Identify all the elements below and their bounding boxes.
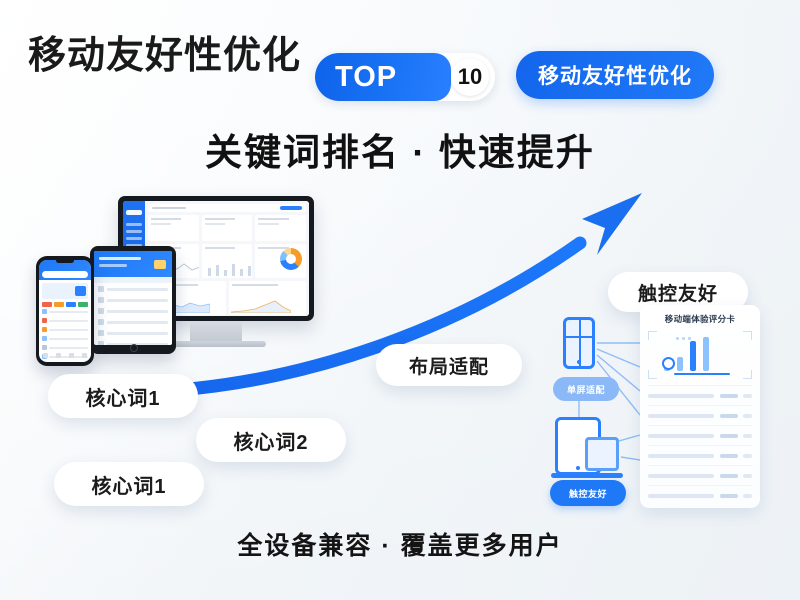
mobile-experience-diagram: 单屏适配 触控友好 移动端体验评分卡 — [545, 305, 760, 520]
list-item — [42, 309, 88, 314]
small-laptop-base — [551, 473, 623, 478]
top-badge-blue-area: TOP — [315, 53, 451, 101]
table-row — [648, 405, 752, 425]
location-pin-icon — [662, 357, 675, 370]
small-laptop-icon — [585, 437, 619, 471]
header-tag-label: 移动友好性优化 — [538, 60, 692, 90]
table-row — [648, 465, 752, 485]
chart-bars — [664, 335, 742, 371]
table-row — [648, 385, 752, 405]
table-row — [648, 445, 752, 465]
keyword-pill-3[interactable]: 核心词1 — [54, 462, 204, 506]
phone-notch — [56, 258, 74, 263]
score-card: 移动端体验评分卡 — [640, 305, 760, 508]
phone-mockup — [36, 256, 94, 366]
top-badge-number-circle: 10 — [451, 58, 489, 96]
table-row — [648, 425, 752, 445]
page-title: 移动友好性优化 — [28, 24, 301, 79]
top-badge-number: 10 — [458, 64, 482, 90]
top-rank-badge: TOP 10 — [315, 53, 495, 101]
phone-app-header — [39, 260, 91, 280]
score-card-table — [648, 385, 752, 505]
table-row — [648, 485, 752, 505]
keyword-pill-2[interactable]: 核心词2 — [196, 418, 346, 462]
phone-screen — [39, 260, 91, 362]
score-card-title: 移动端体验评分卡 — [648, 313, 752, 325]
list-item — [42, 327, 88, 332]
chart-baseline — [674, 373, 730, 375]
keyword-pill-1[interactable]: 核心词1 — [48, 374, 198, 418]
list-item — [42, 336, 88, 341]
home-button-icon — [130, 344, 138, 352]
small-phone-icon — [563, 317, 595, 369]
poster-canvas: 移动友好性优化 TOP 10 移动友好性优化 关键词排名 · 快速提升 — [0, 0, 800, 600]
list-item — [42, 318, 88, 323]
search-input[interactable] — [42, 271, 88, 278]
top-badge-label: TOP — [335, 61, 397, 94]
bottom-caption: 全设备兼容 · 覆盖更多用户 — [0, 526, 800, 562]
callout-layout-adapt[interactable]: 布局适配 — [376, 344, 522, 386]
tag-screen-adapt: 单屏适配 — [553, 377, 619, 401]
page-subtitle: 关键词排名 · 快速提升 — [0, 122, 800, 176]
phone-banner-card — [42, 283, 88, 299]
list-item — [42, 345, 88, 350]
phone-tag-row — [39, 302, 91, 307]
header-tag-pill: 移动友好性优化 — [516, 51, 714, 99]
tag-touch-friendly: 触控友好 — [550, 480, 626, 506]
phone-tabbar — [39, 353, 91, 358]
score-card-chart — [648, 331, 752, 379]
